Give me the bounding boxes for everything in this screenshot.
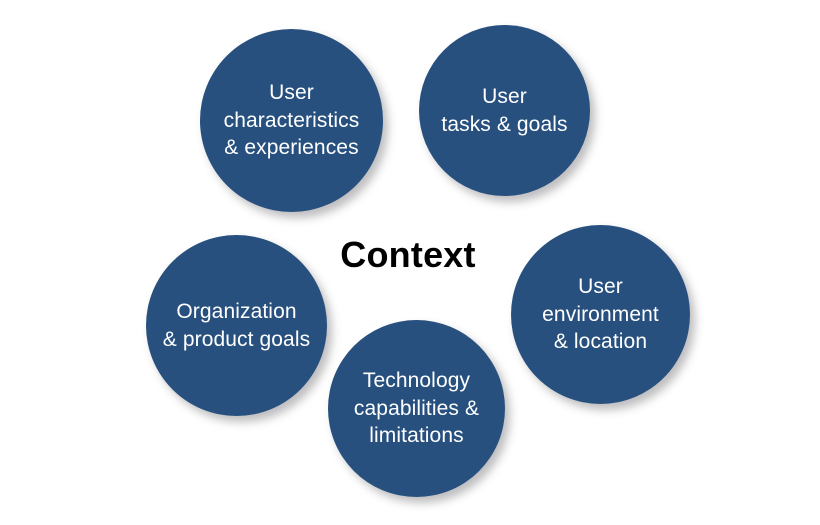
- node-user-tasks-label: User tasks & goals: [431, 83, 577, 139]
- center-label-text: Context: [340, 234, 475, 276]
- node-organization-label: Organization & product goals: [153, 298, 320, 354]
- node-user-environment[interactable]: User environment & location: [511, 225, 690, 404]
- node-organization[interactable]: Organization & product goals: [146, 235, 327, 416]
- center-label: Context: [0, 234, 820, 276]
- node-user-characteristics[interactable]: User characteristics & experiences: [200, 29, 383, 212]
- node-user-tasks[interactable]: User tasks & goals: [419, 25, 590, 196]
- node-user-characteristics-label: User characteristics & experiences: [214, 79, 370, 163]
- node-technology-label: Technology capabilities & limitations: [344, 367, 489, 451]
- context-diagram: User characteristics & experiences User …: [0, 0, 820, 525]
- node-technology[interactable]: Technology capabilities & limitations: [328, 320, 505, 497]
- node-user-environment-label: User environment & location: [532, 273, 669, 357]
